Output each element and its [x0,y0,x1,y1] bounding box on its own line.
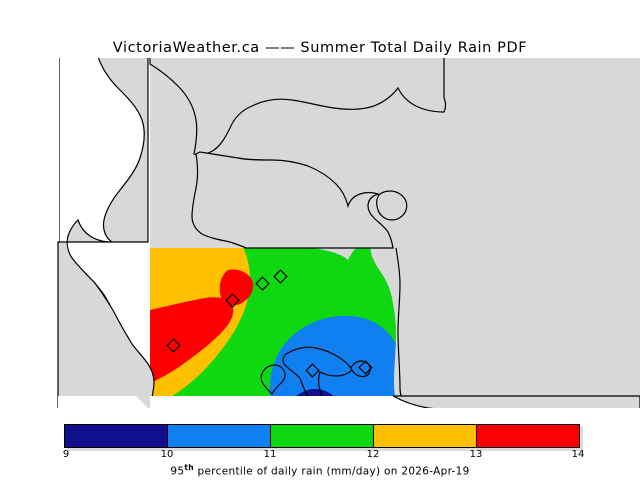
colorbar-tick: 11 [264,449,277,460]
colorbar-band-11-12[interactable] [271,425,374,447]
colorbar-caption-superscript: th [184,463,194,472]
page-title: VictoriaWeather.ca —— Summer Total Daily… [0,40,640,56]
colorbar-tick: 14 [572,449,585,460]
colorbar-tick: 10 [161,449,174,460]
colorbar-tick: 12 [367,449,380,460]
land-island-upper-right [377,191,407,220]
colorbar-tick: 9 [63,449,69,460]
colorbar-band-12-13[interactable] [374,425,477,447]
map-canvas[interactable] [0,58,640,408]
colorbar-tick: 13 [470,449,483,460]
colorbar-band-13-14[interactable] [477,425,579,447]
colorbar-tick-labels: 9 10 11 12 13 14 [0,449,640,463]
colorbar-caption-prefix: 95 [170,466,184,478]
land-southeast-wedge [393,396,640,408]
land-east-lower-fill [396,248,640,396]
colorbar-panel[interactable]: 9 10 11 12 13 14 95th percentile of dail… [0,418,640,480]
colorbar-caption: 95th percentile of daily rain (mm/day) o… [0,463,640,478]
colorbar-caption-suffix: percentile of daily rain (mm/day) on 202… [194,466,470,478]
map-panel[interactable] [0,58,640,408]
contour-fill-group [150,247,403,408]
colorbar-band-10-11[interactable] [168,425,271,447]
colorbar[interactable] [64,424,580,448]
weather-map-page: VictoriaWeather.ca —— Summer Total Daily… [0,0,640,480]
colorbar-band-9-10[interactable] [65,425,168,447]
